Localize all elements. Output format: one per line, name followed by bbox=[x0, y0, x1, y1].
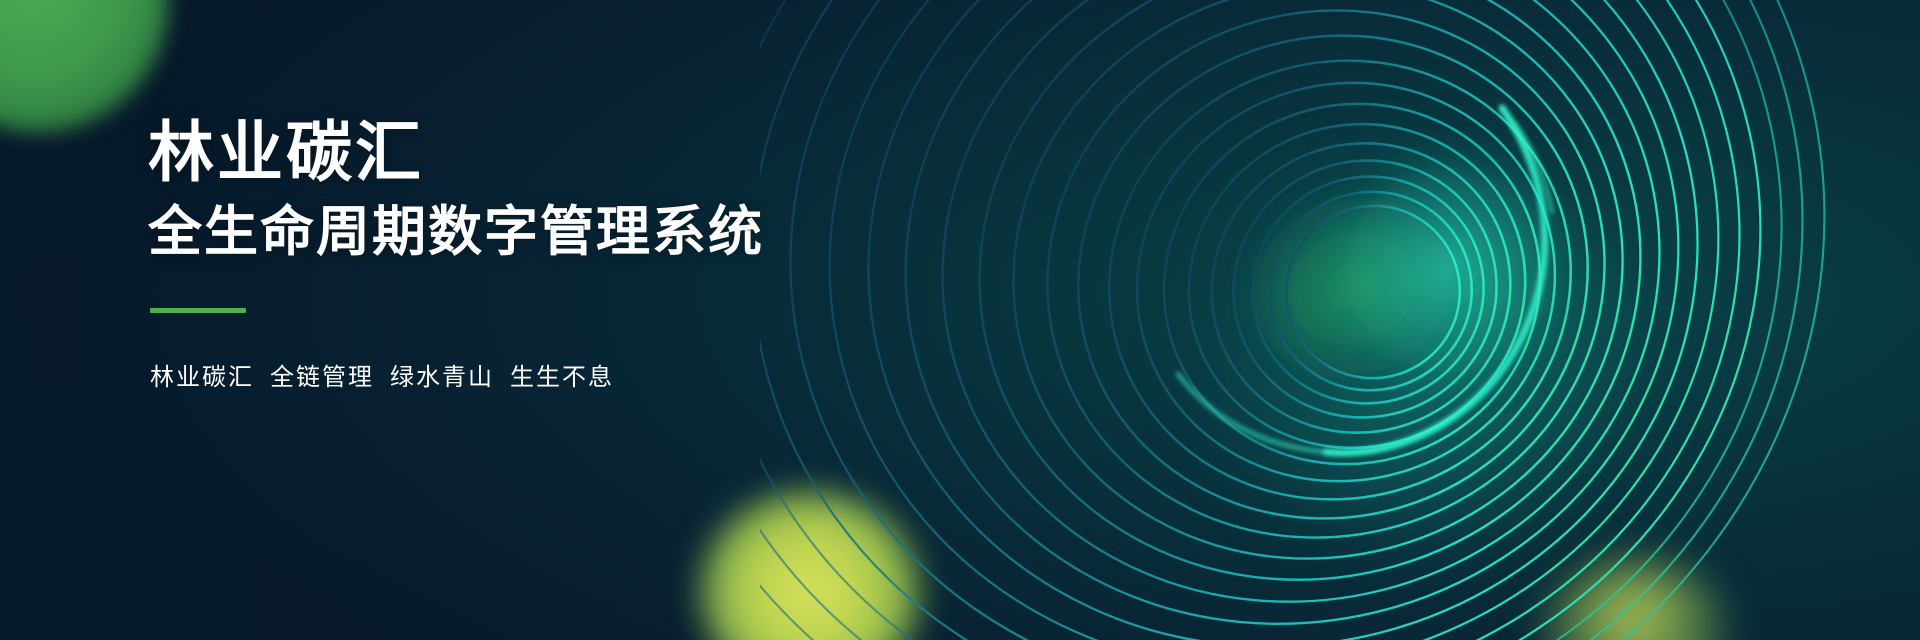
page-title: 林业碳汇 bbox=[148, 118, 948, 188]
tagline-part-3: 绿水青山 bbox=[390, 364, 494, 391]
hero-banner: 林业碳汇 全生命周期数字管理系统 林业碳汇全链管理绿水青山生生不息 bbox=[0, 0, 1920, 640]
hero-text-block: 林业碳汇 全生命周期数字管理系统 林业碳汇全链管理绿水青山生生不息 bbox=[148, 118, 948, 392]
page-subtitle: 全生命周期数字管理系统 bbox=[148, 202, 948, 262]
tagline-part-2: 全链管理 bbox=[270, 364, 374, 391]
green-accent-divider bbox=[150, 308, 246, 313]
tagline: 林业碳汇全链管理绿水青山生生不息 bbox=[150, 357, 948, 392]
tagline-part-1: 林业碳汇 bbox=[150, 364, 254, 391]
tagline-part-4: 生生不息 bbox=[510, 364, 614, 391]
